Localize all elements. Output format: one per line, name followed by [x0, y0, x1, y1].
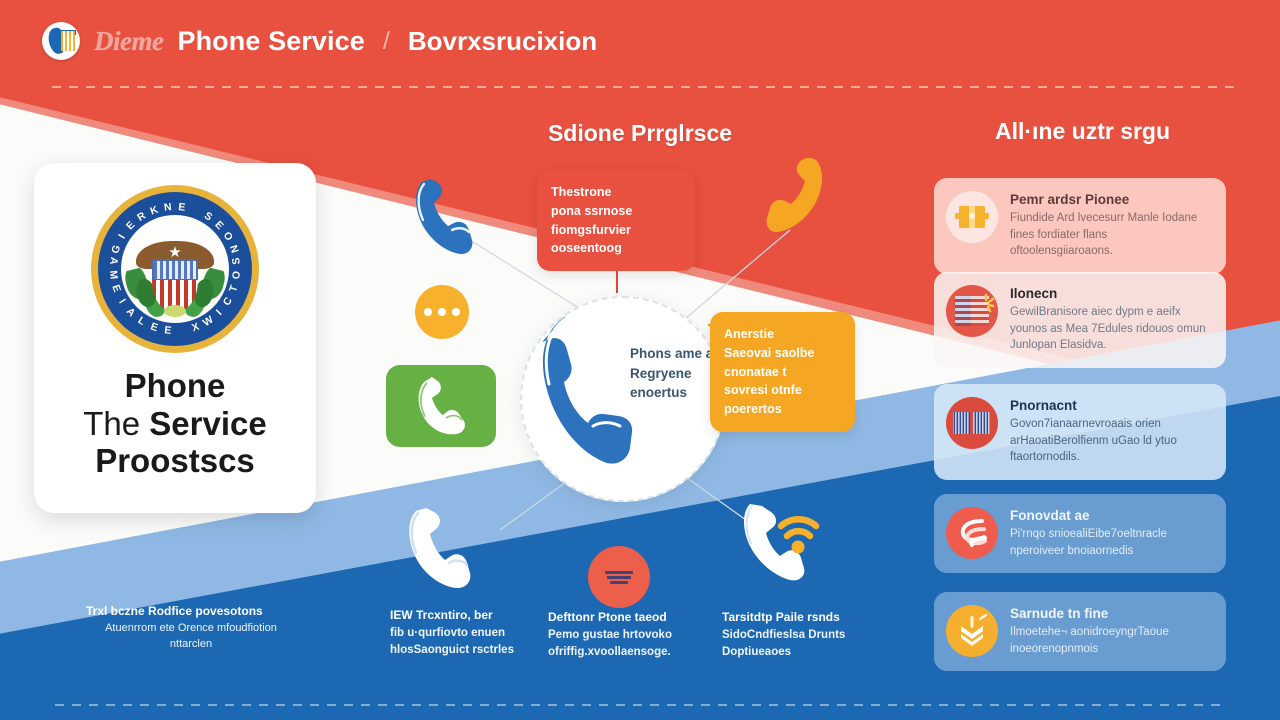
footer-dashed-divider: [55, 704, 1225, 706]
red-node-line-1: pona ssrnose: [551, 202, 681, 221]
page-title: Phone Service: [177, 26, 364, 57]
sunburst-rays-icon: [976, 293, 996, 313]
right-card-2-title: Ilonecn: [1010, 286, 1212, 301]
left-title-service: Service: [149, 405, 266, 442]
wave-swirl-icon: [946, 507, 998, 559]
bottom-caption-1-title: Trxl bczne Rodfice povesotons: [86, 604, 296, 618]
right-card-5-desc: Ilmoetehe¬ aonidroeyngrTaoue inoeorenopn…: [1010, 624, 1212, 657]
right-section-heading: All·ıne uztr srgu: [960, 118, 1205, 145]
bottom-caption-3-desc: Pemo gustae hrtovoko ofriffig.xvoollaens…: [548, 627, 698, 660]
bottom-caption-1-desc: Atuenrrom ete Orence mfoudfiotion nttarc…: [86, 621, 296, 653]
bottom-caption-1: Trxl bczne Rodfice povesotons Atuenrrom …: [86, 604, 296, 653]
page-subtitle: Bovrxsrucixion: [408, 26, 597, 57]
white-phone-handset-icon[interactable]: [404, 508, 474, 590]
dual-flag-icon: [946, 397, 998, 449]
right-card-5[interactable]: Sarnude tn fine Ilmoetehe¬ aonidroeyngrT…: [934, 592, 1226, 671]
amber-phone-handset-icon[interactable]: [766, 158, 828, 238]
left-card-title: Phone The Service Proostscs: [67, 367, 282, 480]
right-card-1-desc: Fiundide Ard lvecesurr Manle Iodane fine…: [1010, 210, 1212, 260]
right-card-2-desc: GewilBranisore aiec dypm e aeifx younos …: [1010, 304, 1212, 354]
page-header: Dieme Phone Service / Bovrxsrucixion: [0, 0, 1280, 95]
amber-node-line-4: poerertos: [724, 400, 841, 419]
header-separator: /: [383, 27, 390, 56]
right-card-3[interactable]: Pnornacnt Govon7ianaarnevroaais orien ar…: [934, 384, 1226, 480]
red-list-badge-icon[interactable]: [588, 546, 650, 608]
star-icon: ★: [168, 245, 181, 260]
left-title-line-2: The Service: [83, 405, 266, 443]
left-summary-card: GIERKNE SEONAMEIALEE XWICTOS ★ Phone The…: [34, 163, 316, 513]
right-card-4-desc: Pi'rnqo snioealiEibe7oeltnracle nperoive…: [1010, 526, 1212, 559]
amber-node-line-1: Saeovai saolbe: [724, 344, 841, 363]
bottom-caption-4-desc: SidoCndfieslsa Drunts Doptiueaoes: [722, 627, 872, 660]
brand-script-text: Dieme: [94, 26, 163, 57]
right-card-3-desc: Govon7ianaarnevroaais orien arHaoatiBero…: [1010, 416, 1212, 466]
left-title-the: The: [83, 405, 140, 442]
bottom-caption-4: Tarsitdtp Paile rsnds SidoCndfieslsa Dru…: [722, 610, 872, 660]
bottom-caption-3-title: Defttonr Ptone taeod: [548, 610, 698, 624]
infographic-canvas: Dieme Phone Service / Bovrxsrucixion GIE…: [0, 0, 1280, 720]
green-phone-call-icon[interactable]: [386, 365, 496, 447]
blue-phone-handset-icon[interactable]: [412, 178, 476, 258]
flag-sunburst-icon: [946, 285, 998, 337]
phone-handset-icon: [532, 310, 636, 470]
red-node-line-0: Thestrone: [551, 183, 681, 202]
right-card-4[interactable]: Fonovdat ae Pi'rnqo snioealiEibe7oeltnra…: [934, 494, 1226, 573]
right-card-5-title: Sarnude tn fine: [1010, 606, 1212, 621]
bottom-caption-3: Defttonr Ptone taeod Pemo gustae hrtovok…: [548, 610, 698, 660]
bottom-caption-2-title: IEW Trcxntiro, ber: [390, 608, 520, 622]
right-card-1-title: Pemr ardsr Pionee: [1010, 192, 1212, 207]
government-seal-icon: GIERKNE SEONAMEIALEE XWICTOS ★: [91, 185, 259, 353]
center-node-card-red[interactable]: Thestrone pona ssrnose fiomgsfurvier oos…: [537, 170, 695, 271]
bottom-caption-2: IEW Trcxntiro, ber fib u·qurfiovto enuen…: [390, 608, 520, 658]
red-node-line-2: fiomgsfurvier: [551, 221, 681, 240]
package-box-icon: [946, 191, 998, 243]
download-arrow-icon: [946, 605, 998, 657]
phone-wifi-signal-icon[interactable]: [740, 500, 836, 586]
right-card-4-title: Fonovdat ae: [1010, 508, 1212, 523]
right-card-3-title: Pnornacnt: [1010, 398, 1212, 413]
ellipsis-dots-icon[interactable]: [415, 285, 469, 339]
center-hub: Phons ame ate Regryene enoertus: [520, 296, 726, 502]
header-dashed-divider: [52, 86, 1242, 88]
right-card-1[interactable]: Pemr ardsr Pionee Fiundide Ard lvecesurr…: [934, 178, 1226, 274]
amber-node-line-3: sovresi otnfe: [724, 381, 841, 400]
center-node-card-amber[interactable]: Anerstie Saeovai saolbe cnonatae t sovre…: [710, 312, 855, 432]
left-title-line-1: Phone: [83, 367, 266, 405]
phone-flag-logo-icon: [42, 22, 80, 60]
amber-node-line-0: Anerstie: [724, 325, 841, 344]
center-section-heading: Sdione Prrglrsce: [520, 120, 760, 147]
right-card-2[interactable]: Ilonecn GewilBranisore aiec dypm e aeifx…: [934, 272, 1226, 368]
amber-node-line-2: cnonatae t: [724, 363, 841, 382]
left-title-line-3: Proostscs: [83, 442, 266, 480]
bottom-caption-4-title: Tarsitdtp Paile rsnds: [722, 610, 872, 624]
bottom-caption-2-desc: fib u·qurfiovto enuen hlosSaonguict rsct…: [390, 625, 520, 658]
red-node-line-3: ooseentoog: [551, 239, 681, 258]
